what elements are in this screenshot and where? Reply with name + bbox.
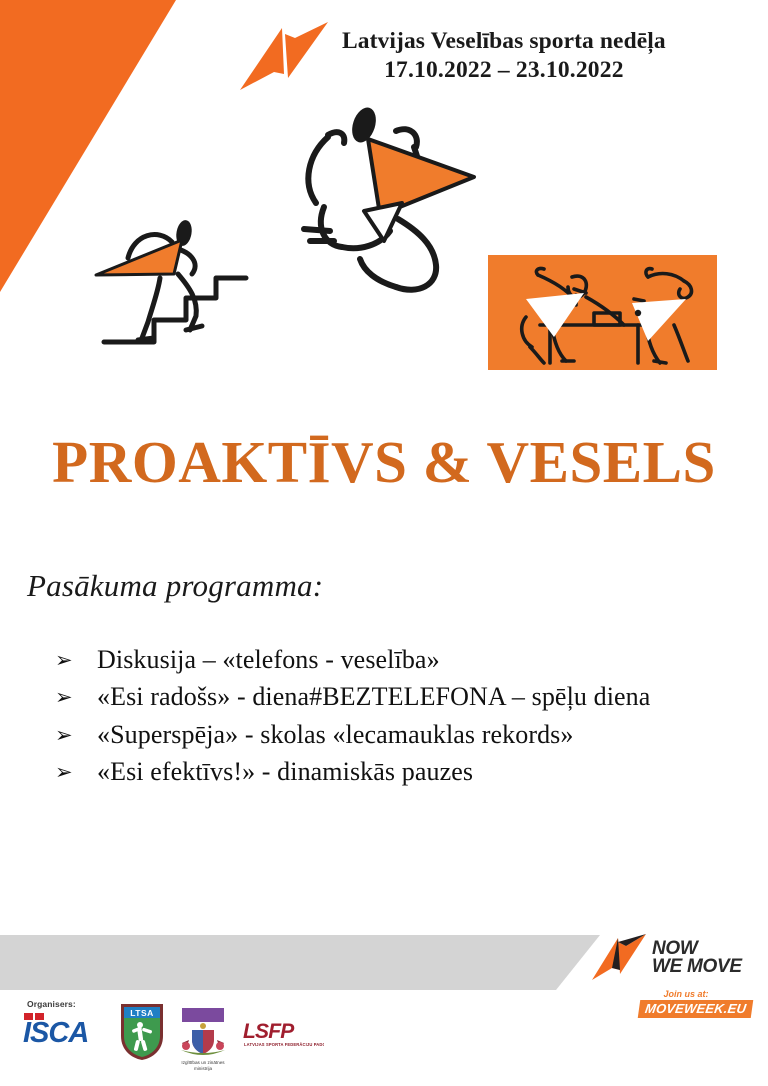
two-stick-figures-at-desk-illustration (488, 255, 717, 370)
nowwemove-line2: WE MOVE (652, 958, 742, 976)
event-title-line1: Latvijas Veselības sporta nedēļa (342, 28, 666, 55)
svg-text:ministrija: ministrija (194, 1066, 213, 1071)
nowwemove-wordmark: NOW WE MOVE (652, 940, 742, 976)
svg-text:LTSA: LTSA (130, 1008, 154, 1018)
svg-text:LATVIJAS SPORTA FEDERĀCIJU PAD: LATVIJAS SPORTA FEDERĀCIJU PADOME (244, 1042, 324, 1047)
footer-gray-band (0, 935, 638, 990)
nowwemove-arrow-icon (232, 14, 336, 100)
programme-heading: Pasākuma programma: (27, 568, 323, 604)
nowwemove-arrow-icon (588, 930, 650, 986)
poster-header: Latvijas Veselības sporta nedēļa 17.10.2… (232, 12, 752, 100)
poster-canvas: Latvijas Veselības sporta nedēļa 17.10.2… (0, 0, 768, 1086)
arrow-bullet-icon: ➢ (55, 755, 97, 787)
list-item-label: Diskusija – «telefons - veselība» (97, 643, 440, 677)
organisers-label: Organisers: (27, 999, 76, 1009)
moveweek-url-badge[interactable]: MOVEWEEK.EU (638, 1000, 754, 1018)
arrow-bullet-icon: ➢ (55, 643, 97, 675)
izm-logo: Izglītības un zinātnes ministrija (176, 1008, 230, 1074)
lsfp-logo: LSFP LATVIJAS SPORTA FEDERĀCIJU PADOME (242, 1018, 324, 1050)
list-item-label: «Esi radošs» - diena#BEZTELEFONA – spēļu… (97, 680, 650, 714)
svg-text:ISCA: ISCA (23, 1017, 88, 1045)
programme-list: ➢ Diskusija – «telefons - veselība» ➢ «E… (55, 643, 715, 792)
isca-logo: ISCA (22, 1011, 112, 1045)
nowwemove-lockup: NOW WE MOVE (588, 930, 760, 986)
arrow-bullet-icon: ➢ (55, 680, 97, 712)
page-title: PROAKTĪVS & VESELS (0, 432, 768, 494)
nowwemove-footer-logo: NOW WE MOVE Join us at: MOVEWEEK.EU (588, 930, 760, 1016)
stick-figure-jumping-illustration (268, 95, 498, 310)
list-item-label: «Esi efektīvs!» - dinamiskās pauzes (97, 755, 473, 789)
list-item: ➢ «Superspēja» - skolas «lecamauklas rek… (55, 718, 715, 752)
arrow-bullet-icon: ➢ (55, 718, 97, 750)
svg-text:LSFP: LSFP (243, 1020, 295, 1043)
list-item: ➢ «Esi efektīvs!» - dinamiskās pauzes (55, 755, 715, 789)
event-dates: 17.10.2022 – 23.10.2022 (342, 55, 666, 86)
header-text-block: Latvijas Veselības sporta nedēļa 17.10.2… (342, 12, 666, 86)
list-item-label: «Superspēja» - skolas «lecamauklas rekor… (97, 718, 574, 752)
list-item: ➢ «Esi radošs» - diena#BEZTELEFONA – spē… (55, 680, 715, 714)
svg-text:Izglītības un zinātnes: Izglītības un zinātnes (181, 1060, 225, 1065)
join-us-label: Join us at: (612, 989, 760, 999)
ltsa-logo: LTSA (118, 1000, 166, 1062)
list-item: ➢ Diskusija – «telefons - veselība» (55, 643, 715, 677)
